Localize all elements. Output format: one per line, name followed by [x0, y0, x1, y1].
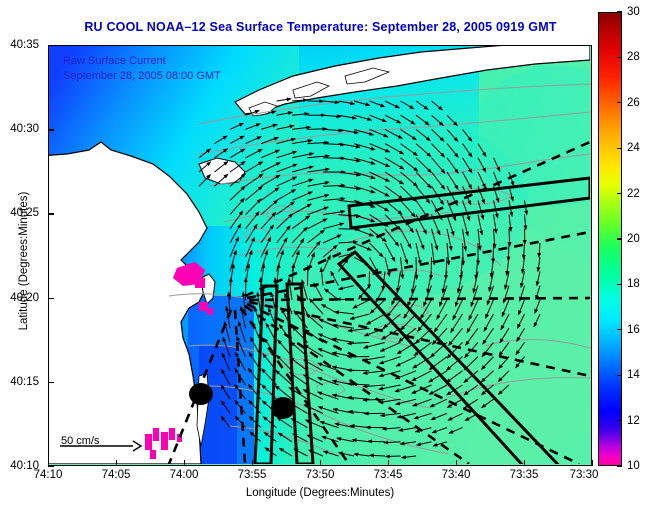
- station-marker-1[interactable]: [189, 383, 213, 405]
- x-tick-label: 73:55: [238, 469, 267, 481]
- raw-surface-current-annotation: Raw Surface Current September 28, 2005 0…: [63, 54, 221, 84]
- colorbar-tick: [617, 102, 622, 103]
- x-tick-label: 74:00: [170, 469, 199, 481]
- colorbar-tick-label: 10: [627, 460, 640, 472]
- colorbar-tick-label: 26: [627, 97, 640, 109]
- annotation-line-1: Raw Surface Current: [63, 54, 221, 69]
- colorbar-tick-label: 12: [627, 415, 640, 427]
- annotation-line-2: September 28, 2005 08:00 GMT: [63, 69, 221, 84]
- y-tick-label: 40:30: [0, 123, 39, 135]
- y-tick-label: 40:35: [0, 39, 39, 51]
- colorbar-tick-label: 22: [627, 188, 640, 200]
- map-plot-area[interactable]: Raw Surface Current September 28, 2005 0…: [48, 45, 592, 466]
- vector-scale-key: 50 cm/s: [57, 435, 100, 447]
- colorbar-tick: [617, 193, 622, 194]
- x-tick-label: 73:45: [374, 469, 403, 481]
- x-tick-label: 73:50: [306, 469, 335, 481]
- y-tick: [48, 466, 54, 467]
- y-tick: [48, 213, 54, 214]
- colorbar-tick: [617, 465, 622, 466]
- sst-map-figure: RU COOL NOAA–12 Sea Surface Temperature:…: [0, 0, 651, 518]
- colorbar-tick: [617, 375, 622, 376]
- station-marker-layer[interactable]: [49, 46, 590, 464]
- figure-title: RU COOL NOAA–12 Sea Surface Temperature:…: [48, 20, 593, 34]
- colorbar-tick-label: 20: [627, 233, 640, 245]
- colorbar-tick-label: 28: [627, 51, 640, 63]
- x-tick-label: 73:40: [442, 469, 471, 481]
- y-tick: [48, 298, 54, 299]
- colorbar-tick: [617, 148, 622, 149]
- colorbar-tick: [617, 238, 622, 239]
- colorbar-tick-label: 16: [627, 324, 640, 336]
- colorbar-tick: [617, 11, 622, 12]
- x-tick-label: 74:05: [102, 469, 131, 481]
- y-tick-label: 40:10: [0, 460, 39, 472]
- y-tick: [48, 382, 54, 383]
- colorbar-tick-label: 24: [627, 142, 640, 154]
- vector-scale-arrow-icon: [57, 435, 591, 465]
- colorbar-tick-label: 30: [627, 6, 640, 18]
- x-tick-label: 73:35: [510, 469, 539, 481]
- colorbar-tick: [617, 57, 622, 58]
- x-tick-label: 73:30: [570, 469, 599, 481]
- x-tick: [592, 460, 593, 466]
- colorbar-tick: [617, 329, 622, 330]
- y-tick: [48, 129, 54, 130]
- y-tick: [48, 45, 54, 46]
- colorbar-tick-label: 18: [627, 278, 640, 290]
- colorbar-tick: [617, 284, 622, 285]
- x-axis-label: Longitude (Degrees:Minutes): [48, 487, 592, 499]
- y-tick-label: 40:15: [0, 376, 39, 388]
- y-axis-label: Latitude (Degrees:Minutes): [18, 151, 30, 371]
- station-marker-2[interactable]: [271, 397, 295, 419]
- colorbar-tick-label: 14: [627, 369, 640, 381]
- colorbar-tick: [617, 420, 622, 421]
